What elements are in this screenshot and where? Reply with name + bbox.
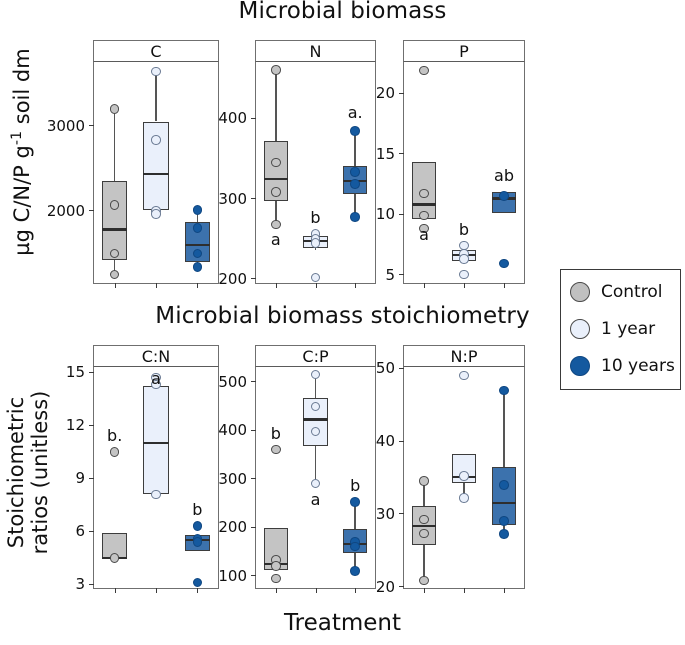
y-tick-mark — [89, 531, 94, 532]
y-tick-mark — [251, 118, 256, 119]
x-tick-mark — [156, 588, 157, 593]
plot-area: 5101520abab — [403, 61, 525, 284]
significance-letter: a — [311, 490, 321, 509]
median-line — [264, 178, 289, 180]
y-tick-label: 3000 — [25, 117, 85, 135]
y-tick-mark — [251, 278, 256, 279]
data-point — [110, 270, 120, 280]
y-tick-mark — [399, 513, 404, 514]
y-tick-mark — [251, 478, 256, 479]
data-point — [459, 270, 469, 280]
y-tick-label: 400 — [187, 421, 247, 439]
x-tick-mark — [504, 283, 505, 288]
data-point — [499, 386, 509, 396]
y-tick-label: 5 — [335, 266, 395, 284]
y-tick-mark — [251, 381, 256, 382]
significance-letter: b — [350, 476, 360, 495]
x-axis-label: Treatment — [0, 610, 685, 636]
median-line — [303, 418, 328, 420]
median-line — [412, 525, 437, 527]
y-tick-mark — [399, 214, 404, 215]
significance-letter: a — [151, 369, 161, 388]
y-tick-mark — [251, 430, 256, 431]
legend-item-control[interactable]: Control — [570, 282, 662, 302]
median-line — [185, 244, 211, 246]
y-tick-mark — [399, 93, 404, 94]
x-tick-mark — [424, 283, 425, 288]
y-tick-mark — [399, 586, 404, 587]
data-point — [311, 273, 321, 283]
y-tick-label: 3 — [25, 575, 85, 593]
data-point — [271, 220, 281, 230]
y-tick-label: 40 — [335, 432, 395, 450]
data-point — [311, 238, 321, 248]
y-axis-label-top-pre: µg C/N/P g — [10, 145, 34, 256]
y-tick-label: 300 — [187, 190, 247, 208]
significance-letter: b. — [107, 426, 122, 445]
box-1-year — [143, 386, 169, 494]
chart-panel-c-p: C:P100200300400500bab — [255, 345, 376, 589]
chart-panel-p: P5101520abab — [403, 40, 525, 284]
y-tick-mark — [399, 274, 404, 275]
x-tick-mark — [115, 283, 116, 288]
data-point — [271, 187, 281, 197]
whisker-upper — [114, 109, 116, 181]
legend-item-1-year[interactable]: 1 year — [570, 319, 655, 339]
significance-letter: a. — [348, 103, 363, 122]
y-tick-label: 15 — [335, 145, 395, 163]
y-tick-label: 9 — [25, 469, 85, 487]
data-point — [350, 179, 360, 189]
y-tick-mark — [89, 425, 94, 426]
x-tick-mark — [316, 283, 317, 288]
significance-letter: a — [271, 230, 281, 249]
data-point — [110, 200, 120, 210]
y-tick-label: 200 — [187, 518, 247, 536]
y-tick-label: 500 — [187, 373, 247, 391]
data-point — [350, 566, 360, 576]
y-tick-label: 200 — [187, 270, 247, 288]
median-line — [412, 203, 437, 205]
data-point — [271, 574, 281, 584]
y-tick-label: 6 — [25, 522, 85, 540]
y-tick-mark — [89, 584, 94, 585]
legend-label: 1 year — [601, 319, 655, 339]
significance-letter: b — [459, 220, 469, 239]
data-point — [419, 515, 429, 525]
chart-panel-c: C20003000 — [93, 40, 219, 284]
x-tick-mark — [424, 588, 425, 593]
x-tick-mark — [276, 283, 277, 288]
x-tick-mark — [115, 588, 116, 593]
significance-letter: b — [271, 424, 281, 443]
data-point — [419, 529, 429, 539]
x-tick-mark — [197, 588, 198, 593]
data-point — [350, 167, 360, 177]
y-tick-mark — [89, 125, 94, 126]
data-point — [419, 576, 429, 586]
median-line — [143, 173, 169, 175]
legend-item-10-years[interactable]: 10 years — [570, 356, 675, 376]
data-point — [459, 254, 469, 264]
y-tick-mark — [251, 198, 256, 199]
x-tick-mark — [464, 283, 465, 288]
y-tick-label: 30 — [335, 505, 395, 523]
data-point — [151, 490, 161, 500]
x-tick-mark — [464, 588, 465, 593]
data-point — [193, 537, 203, 547]
significance-letter: b — [192, 500, 202, 519]
y-tick-label: 20 — [335, 578, 395, 596]
data-point — [151, 67, 161, 77]
y-tick-label: 400 — [187, 109, 247, 127]
data-point — [271, 445, 281, 455]
y-tick-mark — [89, 372, 94, 373]
y-tick-mark — [251, 527, 256, 528]
data-point — [311, 479, 321, 489]
panel-strip-label: C:N — [93, 345, 219, 367]
data-point — [271, 65, 281, 75]
x-tick-mark — [504, 588, 505, 593]
x-tick-mark — [276, 588, 277, 593]
legend-label: Control — [601, 282, 662, 302]
data-point — [419, 211, 429, 221]
data-point — [151, 209, 161, 219]
data-point — [499, 259, 509, 269]
chart-panel-n-p: N:P20304050 — [403, 345, 525, 589]
y-tick-mark — [251, 575, 256, 576]
data-point — [110, 553, 120, 563]
data-point — [110, 447, 120, 457]
y-tick-label: 100 — [187, 567, 247, 585]
significance-letter: a — [419, 225, 429, 244]
whisker-lower — [315, 248, 317, 250]
figure-title-top: Microbial biomass — [0, 0, 685, 24]
y-tick-label: 300 — [187, 470, 247, 488]
whisker-upper — [503, 390, 505, 466]
plot-area: 100200300400500bab — [255, 366, 376, 589]
y-tick-mark — [89, 210, 94, 211]
legend-label: 10 years — [601, 356, 675, 376]
panel-strip-label: C — [93, 40, 219, 62]
panel-strip-label: P — [403, 40, 525, 62]
x-tick-mark — [156, 283, 157, 288]
data-point — [151, 135, 161, 145]
data-point — [350, 126, 360, 136]
panel-strip-label: N:P — [403, 345, 525, 367]
data-point — [459, 471, 469, 481]
significance-letter: ab — [494, 166, 514, 185]
y-axis-label-top-exponent: -1 — [9, 131, 25, 145]
significance-letter: b — [310, 208, 320, 227]
data-point — [110, 104, 120, 114]
data-point — [311, 370, 321, 380]
data-point — [271, 158, 281, 168]
legend-marker-circle-icon — [570, 319, 590, 339]
whisker-upper — [275, 70, 277, 141]
panel-strip-label: N — [255, 40, 376, 62]
figure-canvas: Microbial biomass Microbial biomass stoi… — [0, 0, 685, 645]
legend-marker-circle-icon — [570, 282, 590, 302]
x-tick-mark — [316, 588, 317, 593]
median-line — [492, 502, 517, 504]
data-point — [419, 189, 429, 199]
y-tick-mark — [399, 368, 404, 369]
data-point — [459, 493, 469, 503]
x-tick-mark — [355, 283, 356, 288]
data-point — [499, 480, 509, 490]
data-point — [419, 66, 429, 76]
y-tick-label: 50 — [335, 359, 395, 377]
data-point — [193, 249, 203, 259]
median-line — [102, 228, 128, 230]
data-point — [499, 516, 509, 526]
plot-area: 20304050 — [403, 366, 525, 589]
data-point — [499, 191, 509, 201]
plot-area: 20003000 — [93, 61, 219, 284]
whisker-lower — [315, 446, 317, 484]
y-tick-mark — [399, 153, 404, 154]
y-tick-label: 15 — [25, 363, 85, 381]
data-point — [193, 223, 203, 233]
data-point — [459, 371, 469, 381]
whisker-upper — [155, 71, 157, 121]
y-tick-label: 2000 — [25, 202, 85, 220]
data-point — [499, 529, 509, 539]
legend: Control1 year10 years — [560, 269, 681, 390]
y-tick-label: 12 — [25, 416, 85, 434]
y-tick-mark — [89, 478, 94, 479]
legend-marker-circle-icon — [570, 356, 590, 376]
y-tick-mark — [399, 441, 404, 442]
y-tick-label: 10 — [335, 205, 395, 223]
y-tick-label: 20 — [335, 84, 395, 102]
data-point — [419, 476, 429, 486]
median-line — [143, 442, 169, 444]
y-axis-label-top: µg C/N/P g-1 soil dm — [10, 22, 34, 282]
data-point — [271, 561, 281, 571]
